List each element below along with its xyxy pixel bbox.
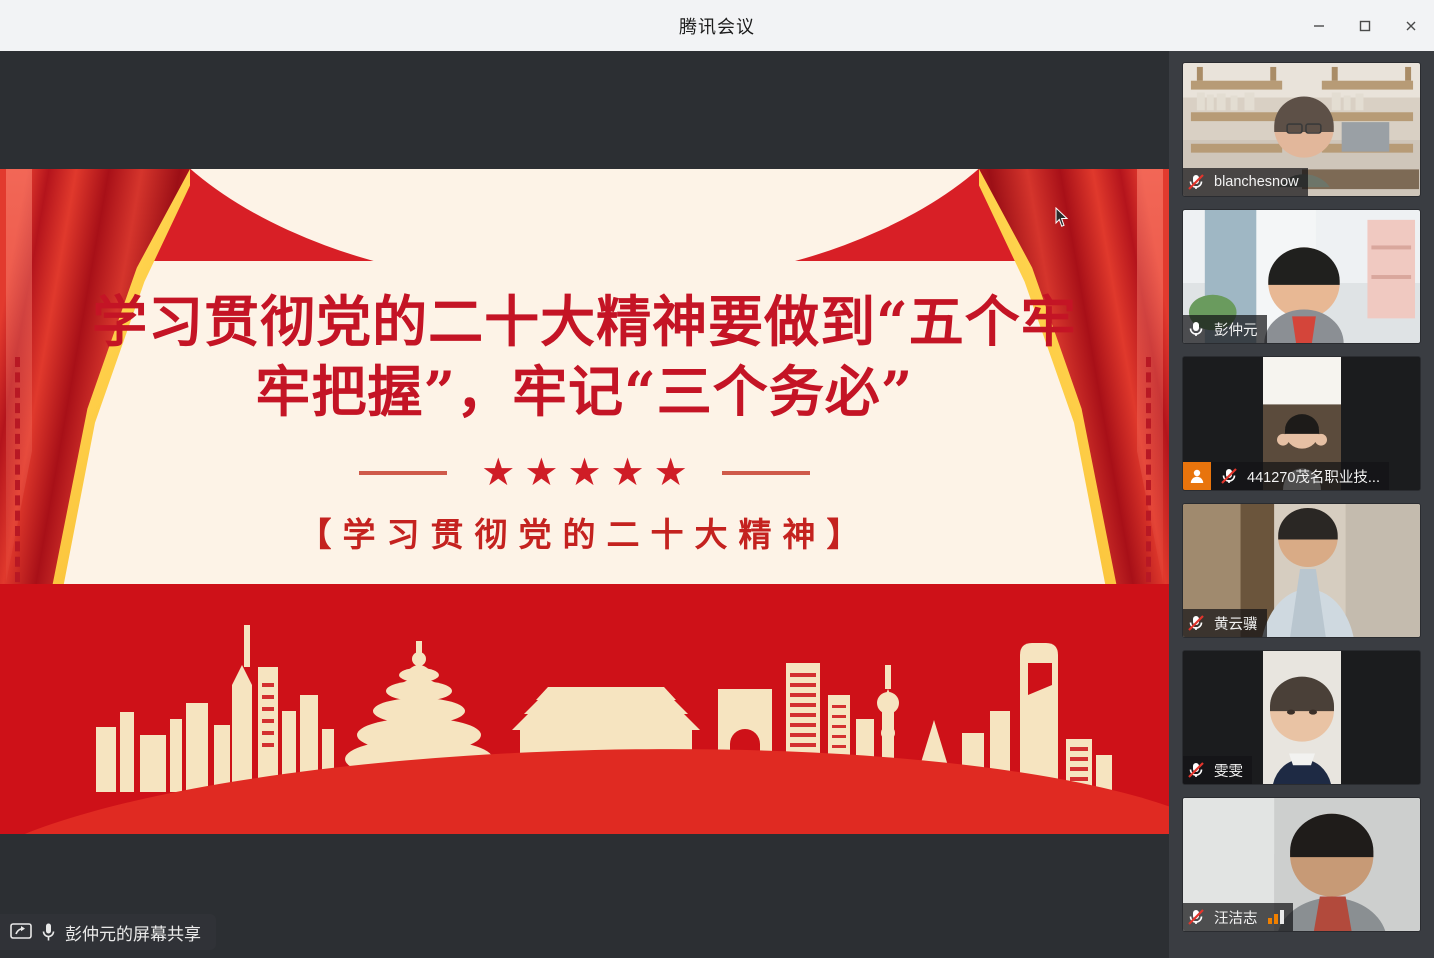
star-icon: ★ bbox=[524, 454, 558, 492]
participant-name: 黄云骥 bbox=[1214, 613, 1258, 634]
participant-nameplate: 黄云骥 bbox=[1183, 609, 1267, 637]
network-signal-icon bbox=[1268, 910, 1284, 924]
meeting-window: 腾讯会议 bbox=[0, 0, 1434, 958]
close-button[interactable] bbox=[1388, 0, 1434, 51]
mouse-cursor-icon bbox=[1055, 207, 1069, 227]
participant-tile[interactable]: 441270茂名职业技... bbox=[1182, 356, 1421, 491]
maximize-button[interactable] bbox=[1342, 0, 1388, 51]
star-icon: ★ bbox=[567, 454, 601, 492]
screen-share-status-text: 彭仲元的屏幕共享 bbox=[65, 920, 201, 945]
slide-subtitle: 【学习贯彻党的二十大精神】 bbox=[299, 508, 871, 556]
microphone-muted-icon bbox=[1183, 614, 1209, 632]
app-title: 腾讯会议 bbox=[679, 13, 755, 39]
shared-screen-stage[interactable]: 学习贯彻党的二十大精神要做到“五个牢牢把握”，牢记“三个务必” ★ ★ ★ ★ … bbox=[0, 51, 1169, 958]
participant-name: 汪洁志 bbox=[1214, 907, 1258, 928]
microphone-muted-icon bbox=[1216, 467, 1242, 485]
video-feed-portrait bbox=[1263, 651, 1341, 784]
participant-tile[interactable]: 黄云骥 bbox=[1182, 503, 1421, 638]
star-icon: ★ bbox=[654, 454, 688, 492]
host-badge-icon bbox=[1183, 462, 1211, 490]
participant-name: blanchesnow bbox=[1214, 174, 1299, 190]
slide-footer-band bbox=[0, 584, 1169, 834]
participant-tile[interactable]: 汪洁志 bbox=[1182, 797, 1421, 932]
participant-name: 441270茂名职业技... bbox=[1247, 466, 1380, 487]
star-divider: ★ ★ ★ ★ ★ bbox=[359, 454, 809, 492]
screen-share-icon bbox=[10, 923, 32, 941]
title-bar: 腾讯会议 bbox=[0, 0, 1434, 51]
divider-rule-left bbox=[359, 471, 447, 475]
minimize-button[interactable] bbox=[1296, 0, 1342, 51]
participant-name: 雯雯 bbox=[1214, 760, 1243, 781]
participant-nameplate: 441270茂名职业技... bbox=[1183, 462, 1389, 490]
participant-name: 彭仲元 bbox=[1214, 319, 1258, 340]
microphone-icon bbox=[1183, 320, 1209, 338]
slide-headline: 学习贯彻党的二十大精神要做到“五个牢牢把握”，牢记“三个务必” bbox=[80, 287, 1090, 428]
star-icon: ★ bbox=[611, 454, 645, 492]
participant-tile[interactable]: blanchesnow bbox=[1182, 62, 1421, 197]
divider-rule-right bbox=[722, 471, 810, 475]
participant-nameplate: 汪洁志 bbox=[1183, 903, 1293, 931]
screen-share-status-bar: 彭仲元的屏幕共享 bbox=[0, 914, 216, 950]
microphone-icon bbox=[41, 922, 56, 942]
star-group: ★ ★ ★ ★ ★ bbox=[481, 454, 687, 492]
presentation-slide: 学习贯彻党的二十大精神要做到“五个牢牢把握”，牢记“三个务必” ★ ★ ★ ★ … bbox=[0, 169, 1169, 834]
microphone-muted-icon bbox=[1183, 173, 1209, 191]
star-icon: ★ bbox=[481, 454, 515, 492]
window-controls bbox=[1296, 0, 1434, 51]
participant-nameplate: 彭仲元 bbox=[1183, 315, 1267, 343]
participant-nameplate: blanchesnow bbox=[1183, 168, 1308, 196]
participant-nameplate: 雯雯 bbox=[1183, 756, 1252, 784]
participant-tile[interactable]: 彭仲元 bbox=[1182, 209, 1421, 344]
participant-rail[interactable]: blanchesnow bbox=[1169, 51, 1434, 958]
microphone-muted-icon bbox=[1183, 908, 1209, 926]
microphone-muted-icon bbox=[1183, 761, 1209, 779]
participant-tile[interactable]: 雯雯 bbox=[1182, 650, 1421, 785]
